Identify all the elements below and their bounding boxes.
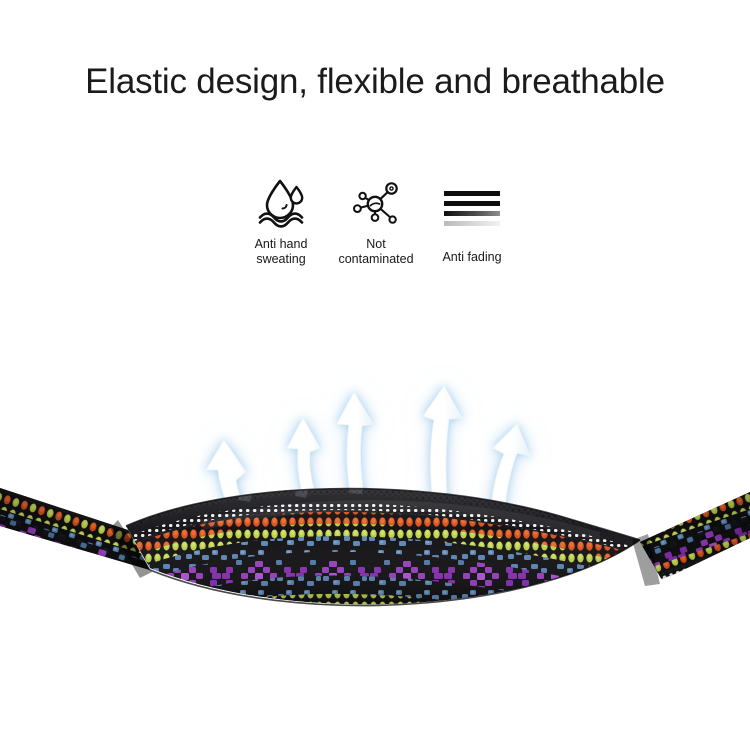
water-drop-icon bbox=[234, 176, 328, 228]
fading-bar-4 bbox=[444, 221, 500, 226]
feature-label-line-1: Not bbox=[366, 237, 385, 251]
woven-elastic-band bbox=[0, 468, 750, 653]
fading-bars-group bbox=[444, 191, 500, 226]
feature-label: Anti fading bbox=[424, 250, 520, 265]
product-feature-banner: Elastic design, flexible and breathable bbox=[0, 0, 750, 750]
feature-label: Notcontaminated bbox=[326, 237, 426, 266]
molecule-icon bbox=[326, 176, 426, 228]
fading-bar-1 bbox=[444, 191, 500, 196]
feature-item-anti-hand-sweating: Anti handsweating bbox=[234, 176, 328, 266]
band-center-bulge bbox=[100, 468, 660, 653]
feature-list: Anti handsweating bbox=[234, 176, 520, 286]
feature-item-not-contaminated: Notcontaminated bbox=[326, 176, 426, 266]
feature-item-anti-fading: Anti fading bbox=[424, 178, 520, 265]
fading-bar-3 bbox=[444, 211, 500, 216]
feature-label: Anti handsweating bbox=[234, 237, 328, 266]
fading-bar-2 bbox=[444, 201, 500, 206]
feature-label-line-1: Anti hand bbox=[255, 237, 308, 251]
feature-label-line-1: Anti fading bbox=[442, 250, 501, 264]
feature-label-line-2: sweating bbox=[256, 252, 305, 266]
fading-bars-icon bbox=[424, 178, 520, 230]
feature-label-line-2: contaminated bbox=[338, 252, 413, 266]
page-title: Elastic design, flexible and breathable bbox=[0, 62, 750, 102]
